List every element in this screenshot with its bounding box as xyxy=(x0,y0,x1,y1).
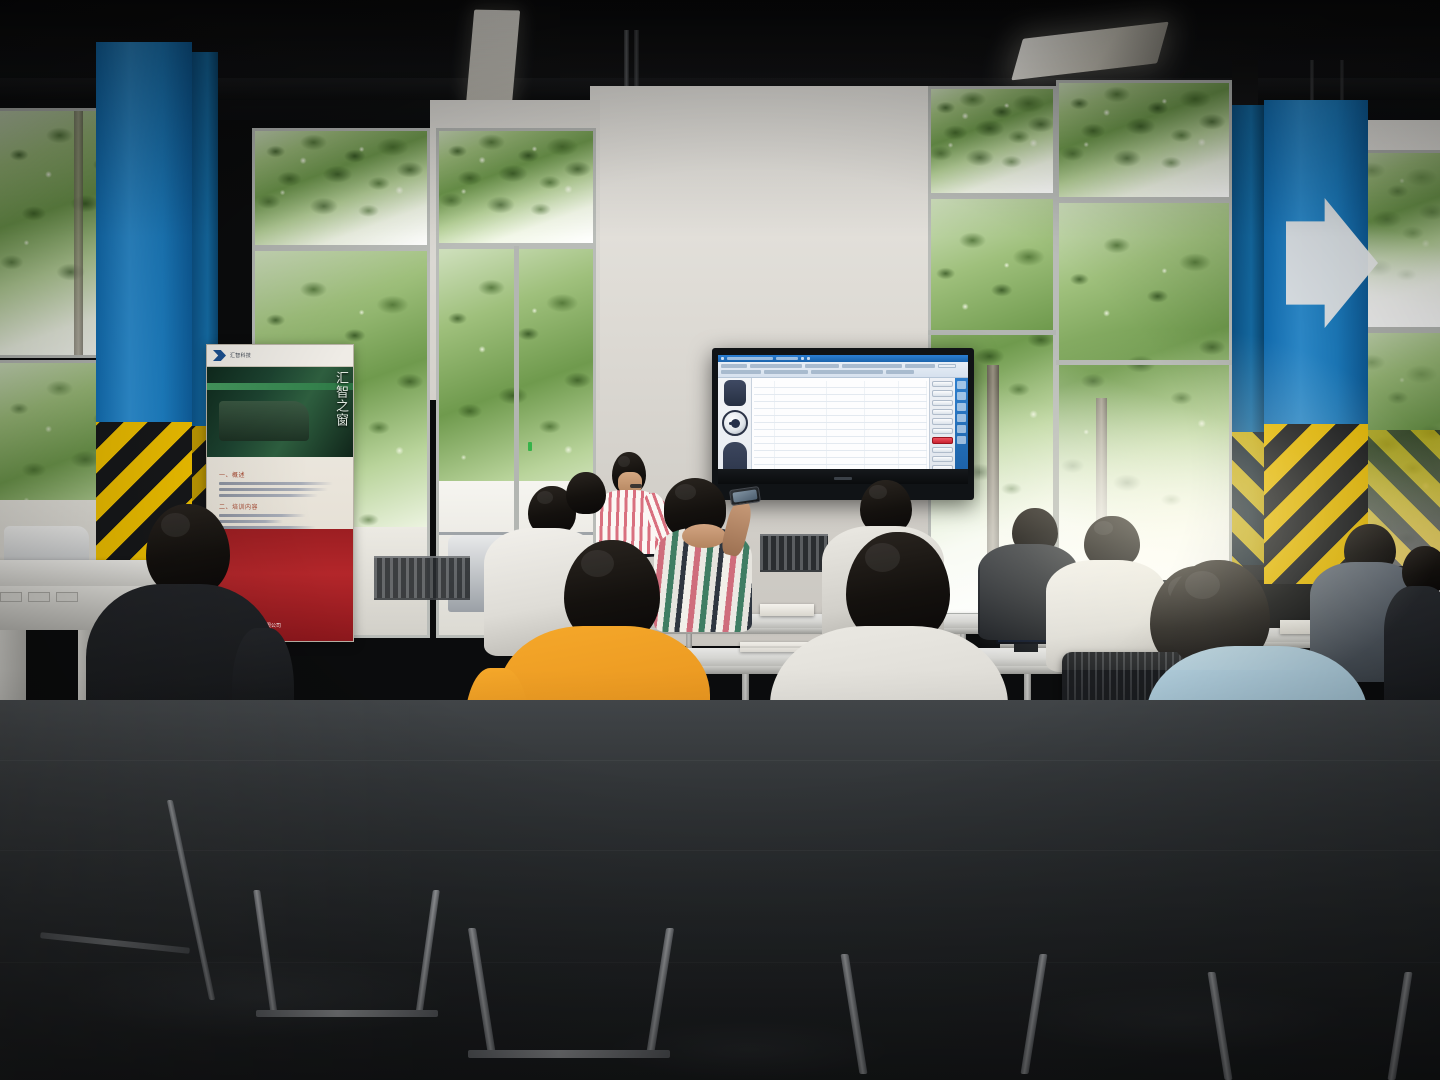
ceiling-light-panel xyxy=(466,10,520,107)
window-mullion-h xyxy=(928,330,1056,335)
toolbar-button[interactable] xyxy=(932,409,953,415)
traffic-signal xyxy=(528,442,532,451)
wall-radiator-grate xyxy=(760,534,828,572)
rack-module xyxy=(56,592,78,602)
wall-mounted-presentation-screen[interactable] xyxy=(712,348,974,500)
attendee-head xyxy=(566,472,606,514)
rack-module xyxy=(28,592,50,602)
far-toolbar-button[interactable] xyxy=(957,414,966,422)
toolbar-button[interactable] xyxy=(932,400,953,406)
far-toolbar-button[interactable] xyxy=(957,425,966,433)
display-brand-logo xyxy=(834,477,852,480)
toolbar-button[interactable] xyxy=(932,390,953,396)
photographer-neck xyxy=(682,524,726,548)
workbench-top xyxy=(0,560,170,586)
active-red-button[interactable] xyxy=(932,437,953,443)
toolbar-button[interactable] xyxy=(932,428,953,434)
toolbar-button[interactable] xyxy=(932,418,953,424)
chair-leg-base xyxy=(468,1050,670,1058)
monitor-stand xyxy=(1014,644,1038,652)
poster-section-heading-2: 二、培训内容 xyxy=(219,502,343,511)
jog-knob-icon[interactable] xyxy=(722,410,748,436)
wall-radiator-grate-left xyxy=(374,556,470,600)
toolbar-button[interactable] xyxy=(932,447,953,453)
right-column-hazard-side xyxy=(1232,432,1264,580)
polished-epoxy-floor xyxy=(0,700,1440,1080)
poster-hero-image: 汇智之窗 xyxy=(207,367,353,457)
far-toolbar-button[interactable] xyxy=(957,392,966,400)
window-center-transom xyxy=(436,128,596,246)
rack-module xyxy=(0,592,22,602)
poster-section-heading: 一、概述 xyxy=(219,470,343,479)
headset-microphone-icon xyxy=(630,484,642,488)
poster-logo-icon xyxy=(213,350,226,361)
poster-hero-title: 汇智之窗 xyxy=(333,371,349,427)
window-right-transom-a xyxy=(928,86,1056,196)
app-titlebar xyxy=(718,355,968,362)
window-left-transom xyxy=(252,128,430,248)
far-toolbar-button[interactable] xyxy=(957,403,966,411)
window-right-transom-b xyxy=(1056,80,1232,200)
left-blue-column-face xyxy=(96,42,192,422)
toolbar-button[interactable] xyxy=(932,456,953,462)
toolbar-button[interactable] xyxy=(932,381,953,387)
attendee-head-black-tee xyxy=(146,504,230,596)
poster-logo-bar: 汇智科技 xyxy=(207,345,353,367)
app-ribbon-toolbar[interactable] xyxy=(718,362,968,378)
poster-logo-text: 汇智科技 xyxy=(230,352,251,359)
window-mullion-h2 xyxy=(1056,360,1232,365)
chair-leg-base xyxy=(256,1010,438,1017)
screen-surface[interactable] xyxy=(718,355,968,484)
panel-badge xyxy=(724,380,746,406)
paper-stack xyxy=(760,604,814,616)
far-toolbar-button[interactable] xyxy=(957,436,966,444)
far-toolbar-button[interactable] xyxy=(957,381,966,389)
classroom-photo-scene: 汇智科技 汇智之窗 一、概述 二、培训内容 三、安排 xyxy=(0,0,1440,1080)
